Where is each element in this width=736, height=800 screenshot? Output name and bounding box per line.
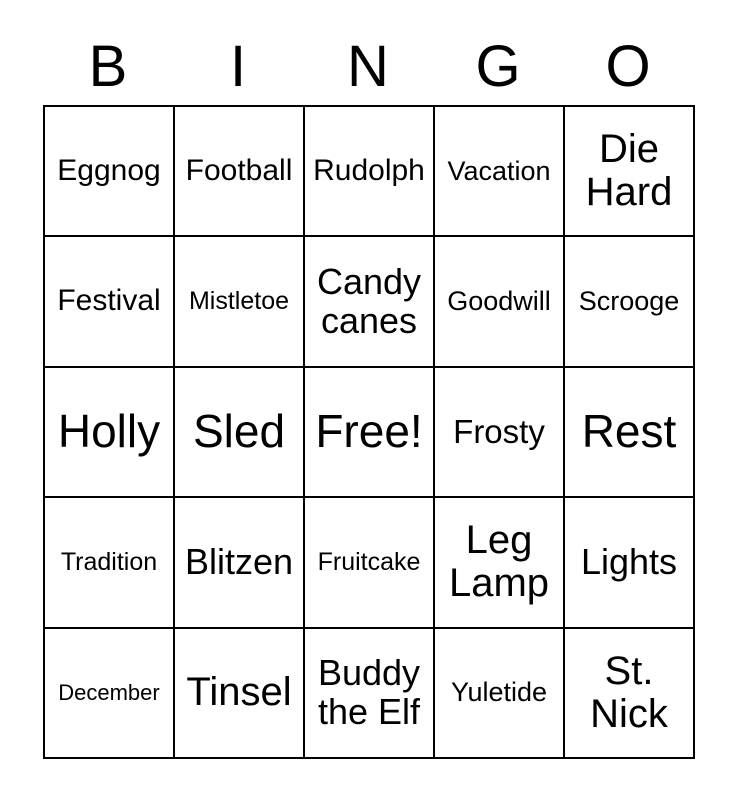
- bingo-cell-label: December: [48, 681, 170, 705]
- bingo-cell-label: St. Nick: [568, 650, 690, 736]
- bingo-cell-label: Rest: [568, 407, 690, 457]
- bingo-cell-label: Sled: [178, 407, 300, 457]
- bingo-cell[interactable]: Festival: [45, 237, 175, 367]
- bingo-cell[interactable]: Buddy the Elf: [305, 629, 435, 759]
- header-letter-b: B: [43, 28, 173, 105]
- bingo-cell[interactable]: Eggnog: [45, 107, 175, 237]
- bingo-cell-label: Tradition: [48, 549, 170, 576]
- bingo-cell[interactable]: Holly: [45, 368, 175, 498]
- bingo-cell-label: Rudolph: [308, 155, 430, 187]
- bingo-cell-label: Free!: [308, 407, 430, 457]
- bingo-cell-label: Festival: [48, 285, 170, 317]
- bingo-cell-label: Goodwill: [438, 287, 560, 316]
- bingo-cell[interactable]: Vacation: [435, 107, 565, 237]
- bingo-cell[interactable]: Rest: [565, 368, 695, 498]
- bingo-cell[interactable]: December: [45, 629, 175, 759]
- bingo-cell-label: Lights: [568, 543, 690, 582]
- bingo-cell[interactable]: Rudolph: [305, 107, 435, 237]
- bingo-cell-label: Holly: [48, 407, 170, 457]
- bingo-cell-label: Vacation: [438, 157, 560, 186]
- bingo-cell[interactable]: Football: [175, 107, 305, 237]
- bingo-cell[interactable]: Leg Lamp: [435, 498, 565, 628]
- bingo-cell[interactable]: Candy canes: [305, 237, 435, 367]
- header-letter-n: N: [303, 28, 433, 105]
- bingo-cell[interactable]: Scrooge: [565, 237, 695, 367]
- bingo-cell[interactable]: Tinsel: [175, 629, 305, 759]
- bingo-cell[interactable]: St. Nick: [565, 629, 695, 759]
- bingo-header: B I N G O: [43, 28, 693, 105]
- bingo-cell[interactable]: Die Hard: [565, 107, 695, 237]
- header-letter-i: I: [173, 28, 303, 105]
- bingo-cell[interactable]: Free!: [305, 368, 435, 498]
- bingo-cell[interactable]: Yuletide: [435, 629, 565, 759]
- bingo-cell-label: Tinsel: [178, 671, 300, 714]
- bingo-cell-label: Frosty: [438, 414, 560, 450]
- bingo-cell[interactable]: Frosty: [435, 368, 565, 498]
- bingo-cell[interactable]: Fruitcake: [305, 498, 435, 628]
- bingo-cell-label: Football: [178, 155, 300, 187]
- bingo-cell-label: Fruitcake: [308, 549, 430, 576]
- bingo-cell-label: Blitzen: [178, 543, 300, 582]
- bingo-grid: EggnogFootballRudolphVacationDie HardFes…: [43, 105, 695, 759]
- bingo-cell-label: Candy canes: [308, 263, 430, 341]
- bingo-cell[interactable]: Sled: [175, 368, 305, 498]
- bingo-cell-label: Scrooge: [568, 287, 690, 316]
- bingo-cell[interactable]: Tradition: [45, 498, 175, 628]
- bingo-cell[interactable]: Blitzen: [175, 498, 305, 628]
- bingo-cell-label: Eggnog: [48, 155, 170, 187]
- bingo-cell-label: Buddy the Elf: [308, 654, 430, 732]
- bingo-cell[interactable]: Goodwill: [435, 237, 565, 367]
- bingo-card: B I N G O EggnogFootballRudolphVacationD…: [0, 0, 736, 800]
- bingo-cell-label: Yuletide: [438, 678, 560, 707]
- bingo-cell-label: Leg Lamp: [438, 519, 560, 605]
- header-letter-o: O: [563, 28, 693, 105]
- bingo-cell[interactable]: Mistletoe: [175, 237, 305, 367]
- bingo-cell-label: Mistletoe: [178, 288, 300, 315]
- bingo-cell[interactable]: Lights: [565, 498, 695, 628]
- bingo-cell-label: Die Hard: [568, 128, 690, 214]
- header-letter-g: G: [433, 28, 563, 105]
